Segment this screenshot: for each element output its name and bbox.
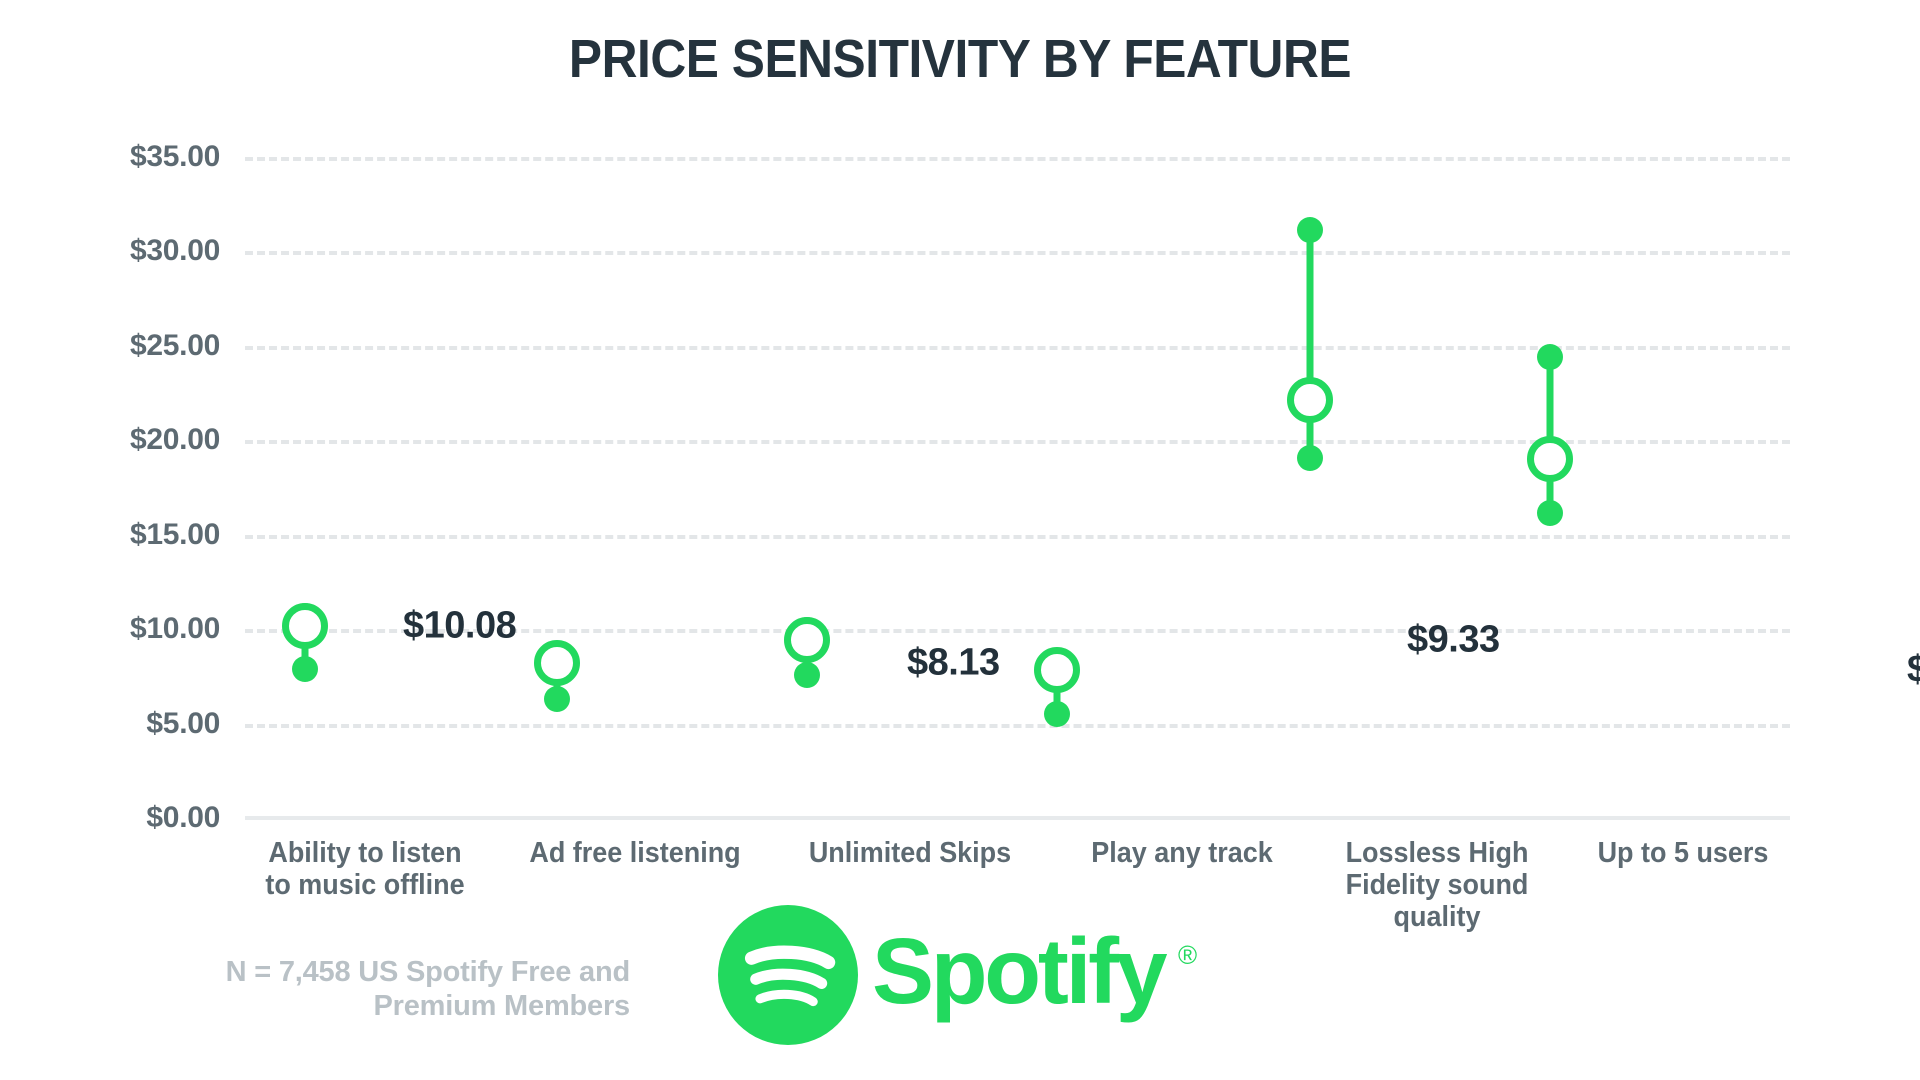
spotify-logo: Spotify ® bbox=[718, 900, 1218, 1050]
y-axis-tick-label: $20.00 bbox=[60, 423, 220, 457]
marker-range-high-dot bbox=[1297, 217, 1323, 243]
chart-canvas: PRICE SENSITIVITY BY FEATURE $35.00 $30.… bbox=[0, 0, 1920, 1080]
x-axis-category-label: Up to 5 users bbox=[1567, 838, 1800, 870]
y-axis-tick-label: $30.00 bbox=[60, 234, 220, 268]
plot-area: $10.08$8.13$9.33$7.74$22.08$18.96 bbox=[245, 100, 1790, 860]
spotify-logo-icon bbox=[718, 905, 858, 1045]
gridline bbox=[245, 724, 1790, 728]
data-value-label: $8.13 bbox=[907, 641, 1000, 684]
x-axis-category-label: Play any track bbox=[1061, 838, 1303, 870]
marker-value-ring bbox=[1034, 647, 1080, 693]
marker-value-ring bbox=[1527, 436, 1573, 482]
marker-value-ring bbox=[282, 603, 328, 649]
axis-baseline bbox=[245, 816, 1790, 820]
y-axis-tick-label: $0.00 bbox=[60, 801, 220, 835]
marker-range-high-dot bbox=[1537, 344, 1563, 370]
marker-range-low-dot bbox=[794, 662, 820, 688]
spotify-wordmark: Spotify ® bbox=[872, 920, 1218, 1030]
y-axis-tick-label: $5.00 bbox=[60, 707, 220, 741]
svg-text:Spotify: Spotify bbox=[872, 920, 1168, 1023]
marker-value-ring bbox=[1287, 377, 1333, 423]
marker-range-low-dot bbox=[1297, 445, 1323, 471]
gridline bbox=[245, 535, 1790, 539]
marker-range-low-dot bbox=[544, 686, 570, 712]
page-title: PRICE SENSITIVITY BY FEATURE bbox=[77, 28, 1843, 90]
marker-range-low-dot bbox=[1044, 701, 1070, 727]
y-axis-tick-label: $25.00 bbox=[60, 329, 220, 363]
marker-value-ring bbox=[784, 617, 830, 663]
data-value-label: $9.33 bbox=[1407, 619, 1500, 662]
y-axis-tick-label: $15.00 bbox=[60, 518, 220, 552]
marker-range-low-dot bbox=[292, 656, 318, 682]
y-axis-tick-label: $10.00 bbox=[60, 612, 220, 646]
x-axis-category-label: Ability to listen to music offline bbox=[244, 838, 486, 902]
marker-value-ring bbox=[534, 640, 580, 686]
y-axis-tick-label: $35.00 bbox=[60, 140, 220, 174]
data-value-label: $10.08 bbox=[403, 605, 516, 648]
marker-range-low-dot bbox=[1537, 500, 1563, 526]
x-axis-category-label: Lossless High Fidelity sound quality bbox=[1330, 838, 1544, 934]
marker-range-stem bbox=[1547, 357, 1554, 513]
marker-range-stem bbox=[1307, 230, 1314, 458]
svg-text:®: ® bbox=[1178, 942, 1197, 970]
gridline bbox=[245, 157, 1790, 161]
data-value-label: $7.74 bbox=[1907, 649, 1920, 692]
x-axis-category-label: Unlimited Skips bbox=[784, 838, 1035, 870]
gridline bbox=[245, 251, 1790, 255]
x-axis-category-label: Ad free listening bbox=[505, 838, 765, 870]
sample-size-footnote: N = 7,458 US Spotify Free and Premium Me… bbox=[120, 955, 630, 1023]
